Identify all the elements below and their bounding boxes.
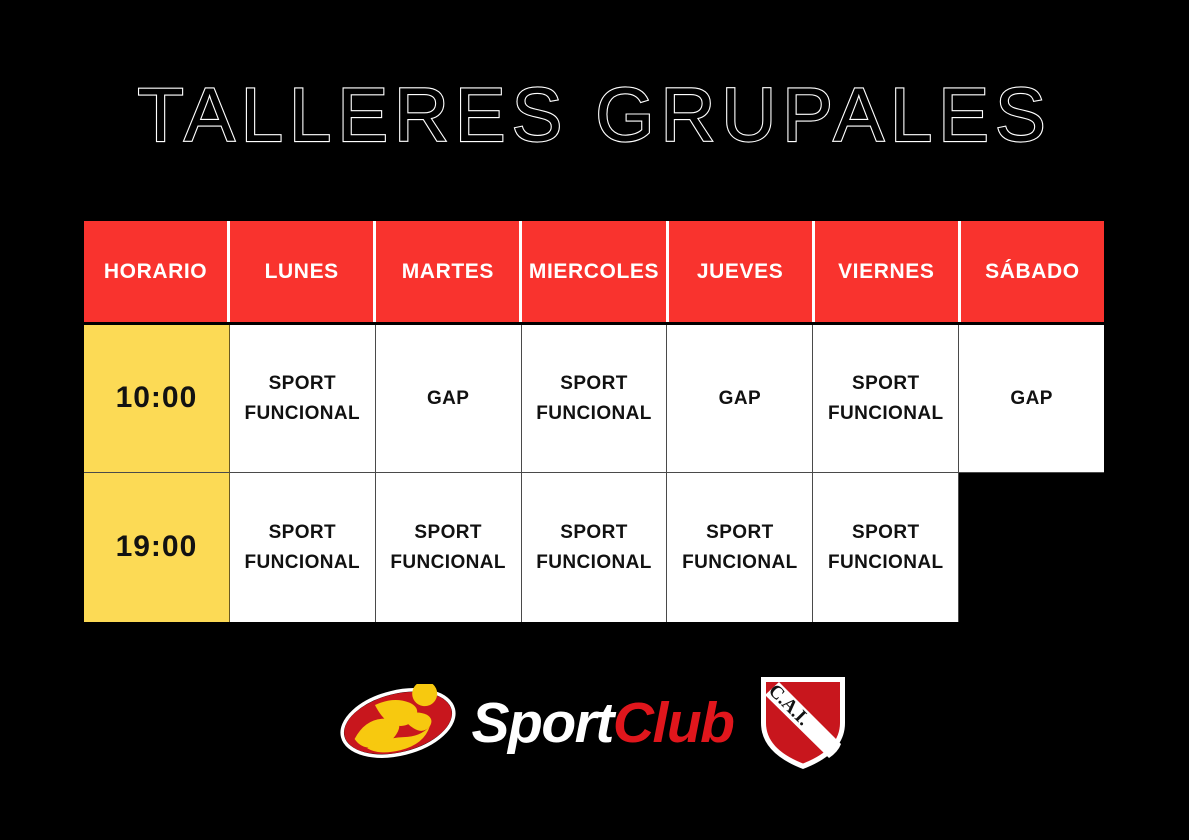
class-cell-martes-1900: SPORT FUNCIONAL — [376, 473, 522, 622]
sportclub-word-sport: Sport — [472, 691, 613, 755]
class-cell-jueves-1900: SPORT FUNCIONAL — [667, 473, 813, 622]
class-name-line1: GAP — [1010, 384, 1052, 413]
class-cell-sabado-1000: GAP — [959, 325, 1104, 473]
column-header-horario: HORARIO — [84, 221, 230, 322]
class-cell-lunes-1900: SPORT FUNCIONAL — [230, 473, 376, 622]
schedule-table: HORARIO LUNES MARTES MIERCOLES JUEVES VI… — [84, 221, 1104, 622]
class-name-line1: GAP — [427, 384, 469, 413]
table-row: 19:00 SPORT FUNCIONAL SPORT FUNCIONAL SP… — [84, 473, 1104, 622]
class-cell-viernes-1000: SPORT FUNCIONAL — [813, 325, 959, 473]
class-cell-miercoles-1900: SPORT FUNCIONAL — [522, 473, 668, 622]
class-cell-lunes-1000: SPORT FUNCIONAL — [230, 325, 376, 473]
sportclub-word-club: Club — [613, 691, 734, 755]
class-name-line1: SPORT — [245, 369, 360, 398]
table-header-row: HORARIO LUNES MARTES MIERCOLES JUEVES VI… — [84, 221, 1104, 322]
cai-shield-icon: C.A.I. — [755, 669, 851, 778]
class-name-line2: FUNCIONAL — [390, 548, 505, 577]
table-body: 10:00 SPORT FUNCIONAL GAP SPORT FUNCIONA… — [84, 322, 1104, 622]
page-title: TALLERES GRUPALES — [137, 78, 1051, 154]
running-man-icon — [338, 684, 458, 762]
class-name-line2: FUNCIONAL — [536, 548, 651, 577]
class-name-line1: SPORT — [828, 369, 943, 398]
class-name-line1: SPORT — [682, 518, 797, 547]
class-name-line2: FUNCIONAL — [828, 399, 943, 428]
class-name-line1: SPORT — [245, 518, 360, 547]
row-time-1000: 10:00 — [84, 325, 230, 473]
class-name-line2: FUNCIONAL — [536, 399, 651, 428]
class-name-line1: SPORT — [390, 518, 505, 547]
page-title-container: TALLERES GRUPALES — [0, 78, 1189, 154]
column-header-martes: MARTES — [376, 221, 522, 322]
class-name-line2: FUNCIONAL — [245, 548, 360, 577]
sportclub-wordmark: SportClub — [472, 695, 734, 752]
column-header-lunes: LUNES — [230, 221, 376, 322]
class-cell-sabado-1900-empty — [959, 473, 1104, 622]
class-cell-jueves-1000: GAP — [667, 325, 813, 473]
sportclub-logo: SportClub — [338, 684, 734, 762]
footer-logos: SportClub C.A.I. — [0, 663, 1189, 783]
class-name-line2: FUNCIONAL — [828, 548, 943, 577]
table-row: 10:00 SPORT FUNCIONAL GAP SPORT FUNCIONA… — [84, 325, 1104, 473]
class-name-line2: FUNCIONAL — [682, 548, 797, 577]
column-header-jueves: JUEVES — [669, 221, 815, 322]
class-name-line1: SPORT — [536, 369, 651, 398]
column-header-viernes: VIERNES — [815, 221, 961, 322]
class-cell-viernes-1900: SPORT FUNCIONAL — [813, 473, 959, 622]
class-name-line1: GAP — [719, 384, 761, 413]
class-name-line2: FUNCIONAL — [245, 399, 360, 428]
column-header-miercoles: MIERCOLES — [522, 221, 668, 322]
row-time-1900: 19:00 — [84, 473, 230, 622]
class-name-line1: SPORT — [536, 518, 651, 547]
column-header-sabado: SÁBADO — [961, 221, 1104, 322]
class-name-line1: SPORT — [828, 518, 943, 547]
class-cell-miercoles-1000: SPORT FUNCIONAL — [522, 325, 668, 473]
class-cell-martes-1000: GAP — [376, 325, 522, 473]
